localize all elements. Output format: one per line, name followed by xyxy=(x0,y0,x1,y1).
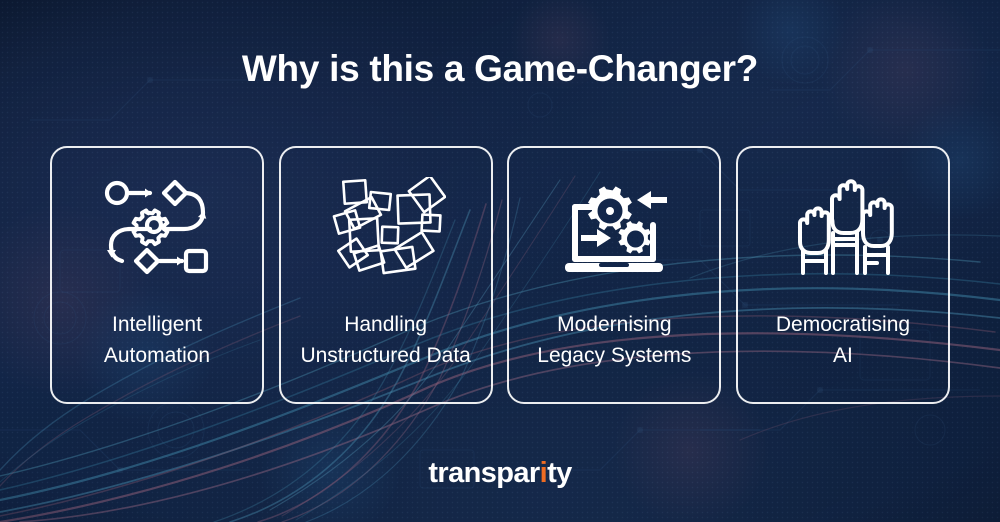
logo-text-before: transpar xyxy=(428,457,539,489)
logo-text-after: ty xyxy=(547,457,572,489)
card-label: Handling Unstructured Data xyxy=(281,309,491,371)
raised-hands-icon xyxy=(789,175,897,279)
scattered-documents-icon xyxy=(326,175,446,279)
slide-canvas: Why is this a Game-Changer? xyxy=(0,0,1000,522)
logo-accent-letter: i xyxy=(540,457,547,489)
card-intelligent-automation[interactable]: Intelligent Automation xyxy=(50,146,264,404)
card-label: Democratising AI xyxy=(738,309,948,371)
page-title: Why is this a Game-Changer? xyxy=(0,48,1000,90)
card-democratising-ai[interactable]: Democratising AI xyxy=(736,146,950,404)
feature-card-row: Intelligent Automation xyxy=(50,146,950,404)
card-label: Intelligent Automation xyxy=(52,309,262,371)
card-label: Modernising Legacy Systems xyxy=(509,309,719,371)
transparity-logo: transparity xyxy=(0,457,1000,490)
card-modernising-legacy-systems[interactable]: Modernising Legacy Systems xyxy=(507,146,721,404)
workflow-automation-icon xyxy=(102,175,212,279)
laptop-gears-icon xyxy=(555,175,673,279)
card-handling-unstructured-data[interactable]: Handling Unstructured Data xyxy=(279,146,493,404)
